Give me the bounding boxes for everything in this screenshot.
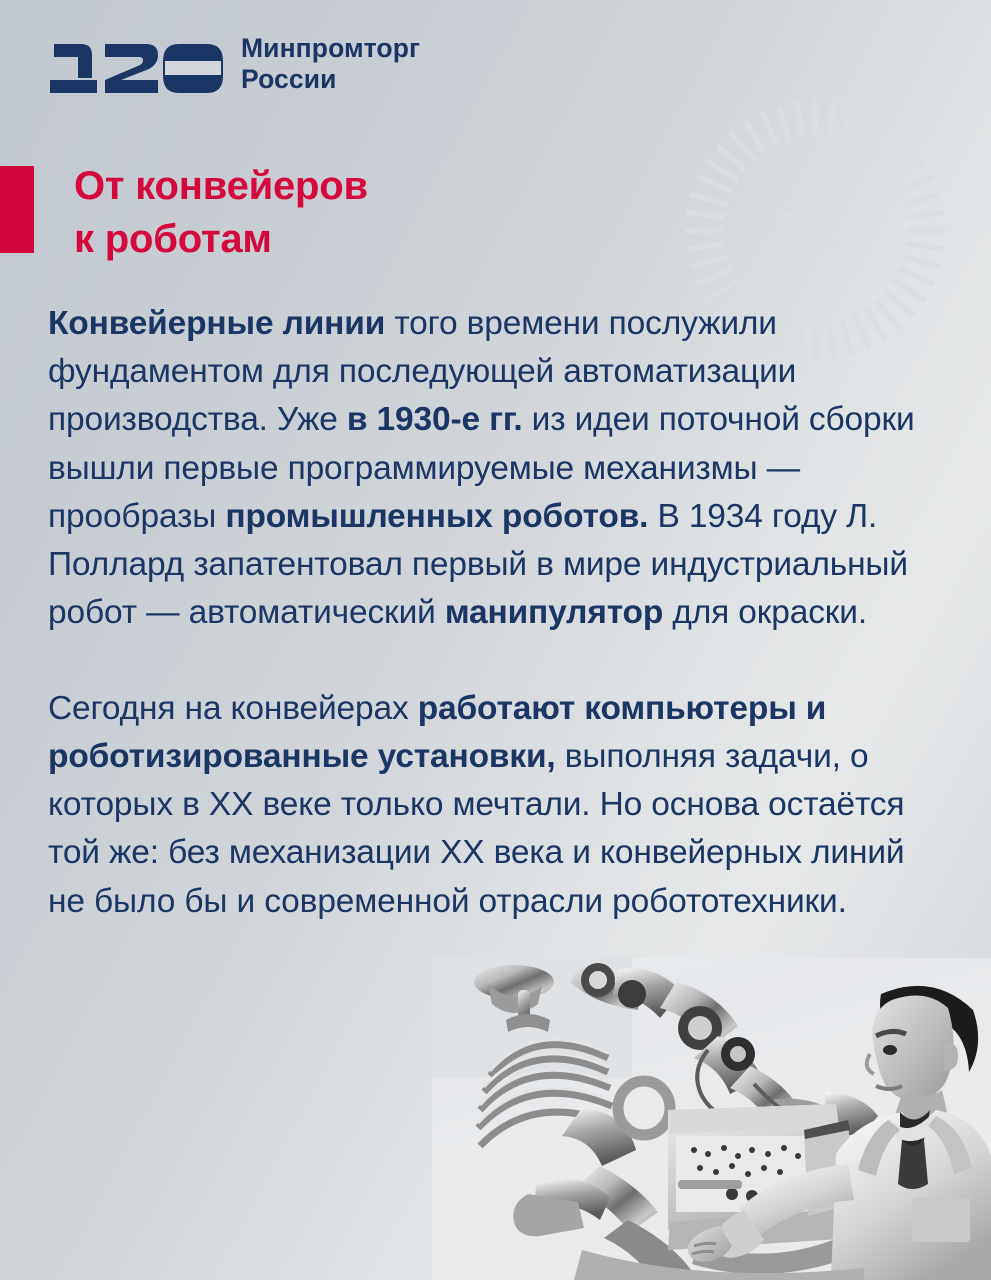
title-row: От конвейеров к роботам (0, 166, 368, 293)
archival-robot-photo (432, 958, 991, 1280)
body-paragraph-2: Сегодня на конвейерах работают компьютер… (48, 685, 923, 926)
page-title: От конвейеров к роботам (74, 160, 368, 266)
poster-canvas: Минпромторг России От конвейеров к робот… (0, 0, 991, 1280)
title-accent-bar (0, 166, 34, 253)
body-paragraph-1: Конвейерные линии того времени послужили… (48, 300, 923, 638)
body-copy: Конвейерные линии того времени послужили… (48, 300, 923, 926)
brand-wordmark: Минпромторг России (241, 33, 420, 95)
anniversary-120-icon (48, 33, 223, 95)
brand-logo: Минпромторг России (48, 33, 420, 95)
archival-robot-photo-svg (432, 958, 991, 1280)
